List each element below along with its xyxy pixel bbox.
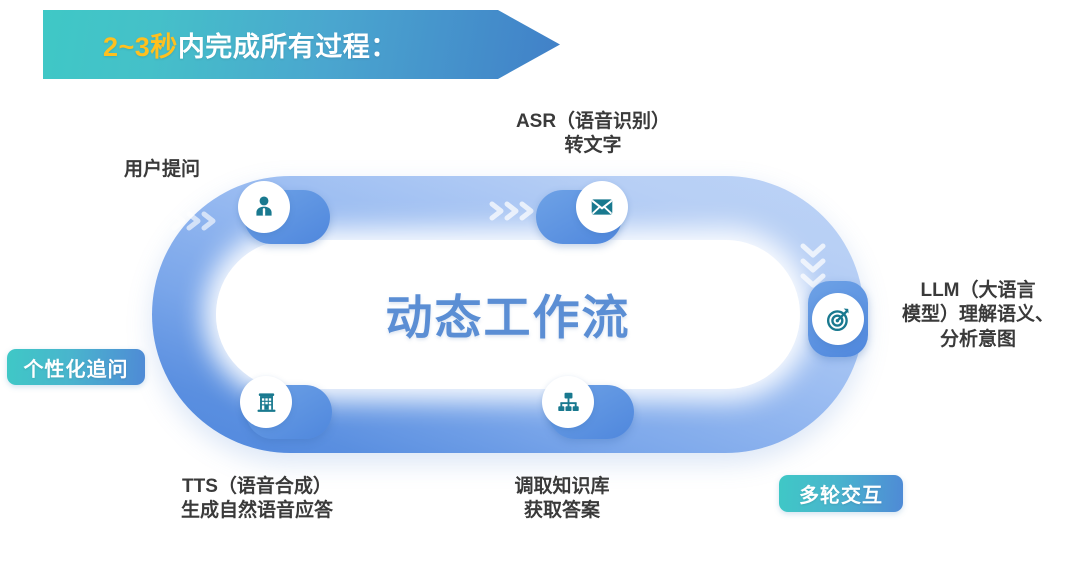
node-user[interactable] [244,190,330,244]
caption-asr: ASR（语音识别） 转文字 [458,110,728,159]
workflow-loop: 动态工作流 [152,176,864,453]
badge-multiturn[interactable]: 多轮交互 [779,475,903,512]
banner-rest: 内完成所有过程： [178,25,398,64]
envelope-icon [589,194,615,220]
envelope-icon-bubble [576,181,628,233]
sitemap-icon-bubble [542,376,594,428]
header-banner: 2~3秒内完成所有过程： [43,10,560,79]
loop-center-label: 动态工作流 [152,279,864,348]
caption-llm: LLM（大语言 模型）理解语义、 分析意图 [880,279,1076,352]
caption-tts: TTS（语音合成） 生成自然语音应答 [124,475,390,524]
chevrons-top-left [170,208,228,234]
slide-canvas: 2~3秒内完成所有过程： 动态工作流 [0,0,1080,571]
badge-followup-label: 个性化追问 [24,353,129,382]
sitemap-icon [556,390,581,415]
user-icon-bubble [238,181,290,233]
building-icon [254,390,279,415]
node-tts[interactable] [246,385,332,439]
badge-followup[interactable]: 个性化追问 [7,349,145,385]
caption-user: 用户提问 [62,158,262,182]
target-icon-bubble [812,293,864,345]
caption-knowledge: 调取知识库 获取答案 [438,475,686,524]
badge-multiturn-label: 多轮交互 [799,479,883,508]
node-asr[interactable] [536,190,622,244]
building-icon-bubble [240,376,292,428]
node-knowledge[interactable] [548,385,634,439]
banner-text: 2~3秒内完成所有过程： [103,10,398,79]
target-icon [825,306,852,333]
user-icon [251,194,277,220]
node-llm[interactable] [808,281,868,357]
banner-highlight: 2~3秒 [103,25,178,64]
